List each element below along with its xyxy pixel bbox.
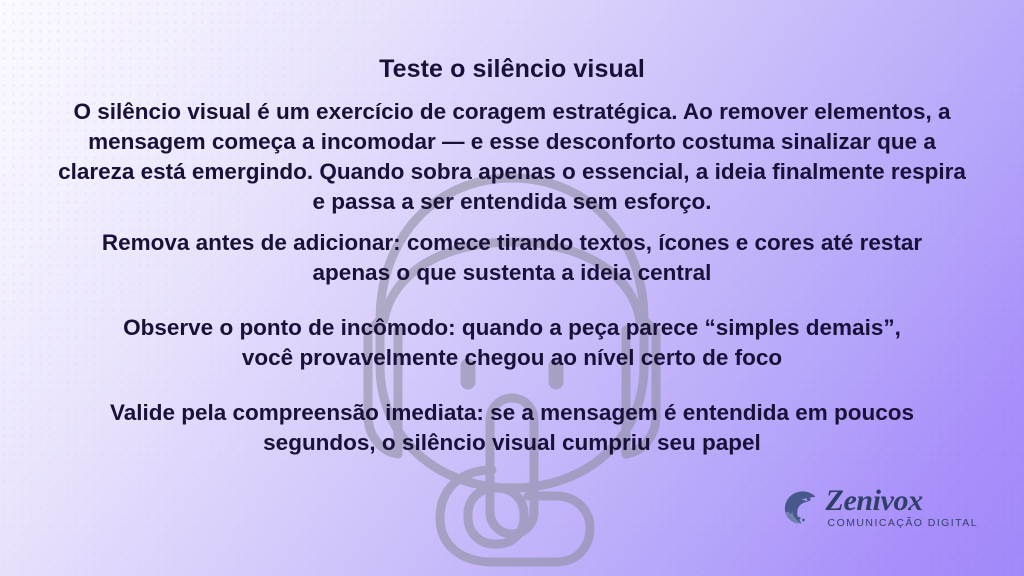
slide-canvas: Teste o silêncio visual O silêncio visua… [0,0,1024,576]
logo-wordmark: Zenivox COMUNICAÇÃO DIGITAL [826,486,978,529]
bullet-point-1: Remova antes de adicionar: comece tirand… [62,228,962,288]
logo-brand-name: Zenivox [826,486,978,516]
bullet-point-3: Valide pela compreensão imediata: se a m… [58,398,966,458]
bullet-point-2: Observe o ponto de incômodo: quando a pe… [110,313,914,373]
intro-paragraph: O silêncio visual é um exercício de cora… [56,97,968,217]
zenivox-dolphin-mark [781,488,819,526]
page-title: Teste o silêncio visual [0,55,1024,84]
zenivox-logo: Zenivox COMUNICAÇÃO DIGITAL [781,486,978,529]
logo-tagline: COMUNICAÇÃO DIGITAL [828,518,978,529]
